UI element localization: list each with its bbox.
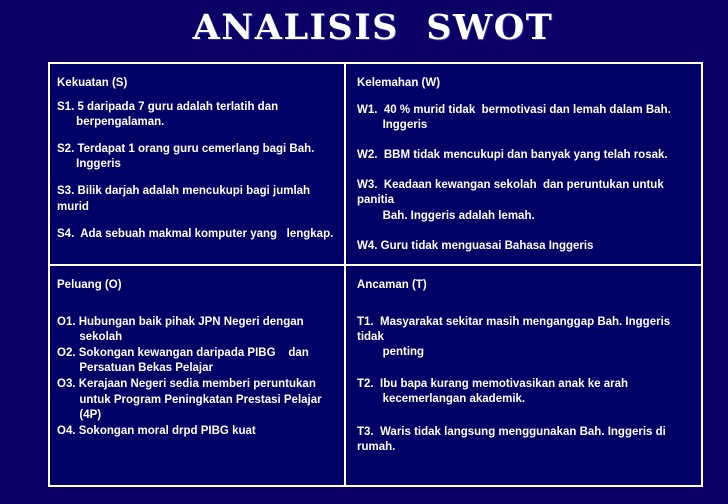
- strengths-heading: Kekuatan (S): [57, 77, 336, 91]
- swot-quadrant-opportunities: Peluang (O) O1. Hubungan baik pihak JPN …: [50, 266, 346, 485]
- list-item: W3. Keadaan kewangan sekolah dan peruntu…: [357, 178, 693, 224]
- list-item: S1. 5 daripada 7 guru adalah terlatih da…: [57, 100, 336, 130]
- swot-matrix: Kekuatan (S) S1. 5 daripada 7 guru adala…: [48, 62, 703, 487]
- strengths-list: S1. 5 daripada 7 guru adalah terlatih da…: [57, 100, 336, 242]
- list-item: O4. Sokongan moral drpd PIBG kuat: [57, 424, 336, 439]
- swot-quadrant-weaknesses: Kelemahan (W) W1. 40 % murid tidak bermo…: [346, 64, 701, 266]
- list-item: W1. 40 % murid tidak bermotivasi dan lem…: [357, 103, 693, 133]
- weaknesses-list: W1. 40 % murid tidak bermotivasi dan lem…: [353, 103, 693, 254]
- list-item: W4. Guru tidak menguasai Bahasa Inggeris: [357, 239, 693, 254]
- list-item: S3. Bilik darjah adalah mencukupi bagi j…: [57, 184, 336, 214]
- list-item: O3. Kerajaan Negeri sedia memberi perunt…: [57, 377, 336, 423]
- slide-title: ANALISIS SWOT: [0, 10, 728, 47]
- list-item: S4. Ada sebuah makmal komputer yang leng…: [57, 227, 336, 242]
- threats-heading: Ancaman (T): [357, 279, 693, 293]
- weaknesses-heading: Kelemahan (W): [357, 77, 693, 91]
- swot-quadrant-threats: Ancaman (T) T1. Masyarakat sekitar masih…: [346, 266, 701, 485]
- opportunities-heading: Peluang (O): [57, 279, 336, 293]
- swot-quadrant-strengths: Kekuatan (S) S1. 5 daripada 7 guru adala…: [50, 64, 346, 266]
- list-item: W2. BBM tidak mencukupi dan banyak yang …: [357, 148, 693, 163]
- opportunities-list: O1. Hubungan baik pihak JPN Negeri denga…: [57, 315, 336, 439]
- list-item: O1. Hubungan baik pihak JPN Negeri denga…: [57, 315, 336, 345]
- list-item: T1. Masyarakat sekitar masih menganggap …: [357, 315, 693, 361]
- list-item: S2. Terdapat 1 orang guru cemerlang bagi…: [57, 142, 336, 172]
- threats-list: T1. Masyarakat sekitar masih menganggap …: [353, 315, 693, 455]
- list-item: O2. Sokongan kewangan daripada PIBG dan …: [57, 346, 336, 376]
- list-item: T2. Ibu bapa kurang memotivasikan anak k…: [357, 377, 693, 407]
- list-item: T3. Waris tidak langsung menggunakan Bah…: [357, 425, 693, 455]
